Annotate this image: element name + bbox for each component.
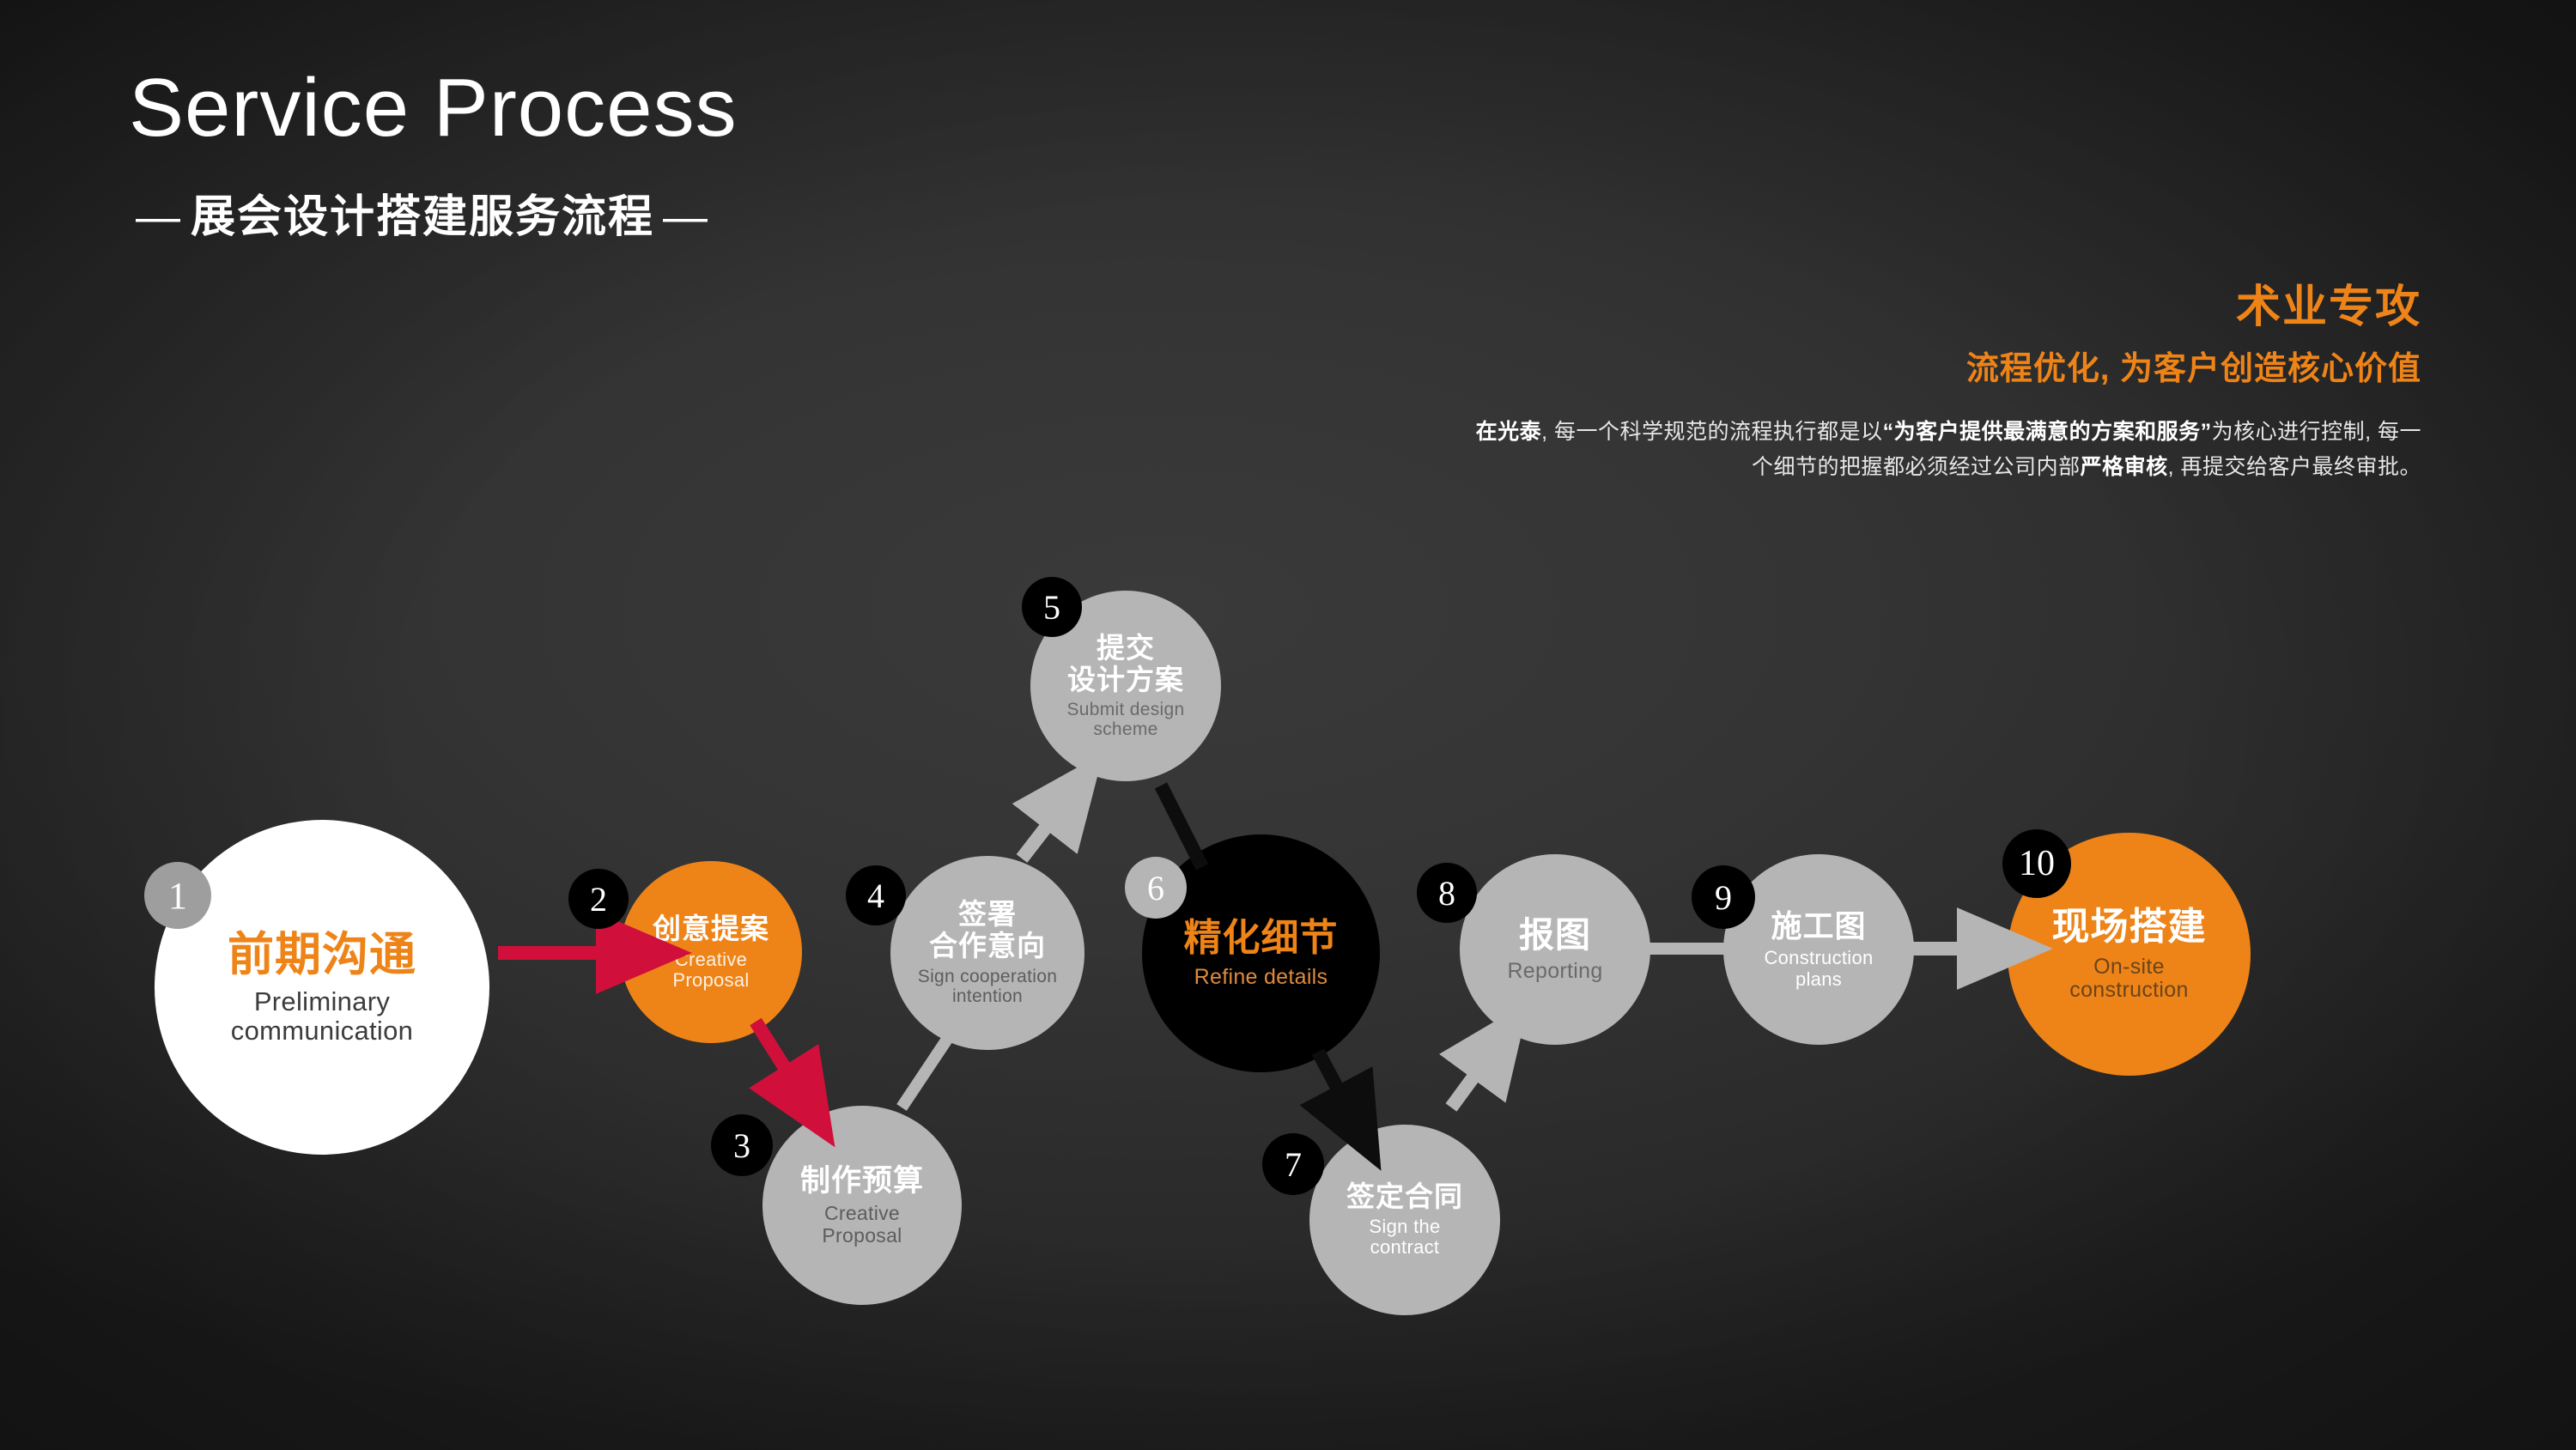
flow-node-7-number-badge: 7 bbox=[1262, 1133, 1324, 1195]
flow-node-4-number: 4 bbox=[867, 876, 884, 916]
flow-node-9-number-badge: 9 bbox=[1692, 865, 1755, 929]
connector-6-to-7 bbox=[1318, 1052, 1357, 1125]
connector-3-to-4 bbox=[902, 1030, 953, 1107]
flow-node-10-number-badge: 10 bbox=[2002, 829, 2071, 898]
flow-node-10-number: 10 bbox=[2019, 843, 2055, 884]
connector-2-to-3 bbox=[756, 1022, 807, 1103]
flow-node-6-number-badge: 6 bbox=[1125, 857, 1187, 919]
connector-5-to-6 bbox=[1161, 786, 1202, 867]
slide-stage: Service Process —展会设计搭建服务流程— 术业专攻 流程优化, … bbox=[0, 0, 2576, 1450]
flow-connectors bbox=[0, 0, 2576, 1450]
flow-node-5-number-badge: 5 bbox=[1022, 577, 1082, 637]
flow-node-1-number: 1 bbox=[168, 874, 187, 918]
flow-node-7-number: 7 bbox=[1285, 1144, 1302, 1185]
flow-node-2-number-badge: 2 bbox=[568, 869, 629, 929]
flow-node-3-number: 3 bbox=[733, 1125, 750, 1166]
flow-node-9-number: 9 bbox=[1715, 877, 1732, 918]
flow-node-2-number: 2 bbox=[590, 879, 607, 919]
flow-node-6-number: 6 bbox=[1147, 868, 1164, 908]
flow-node-1-number-badge: 1 bbox=[144, 862, 211, 929]
flow-node-3-number-badge: 3 bbox=[711, 1114, 773, 1176]
flow-node-4-number-badge: 4 bbox=[846, 865, 906, 925]
connector-4-to-5 bbox=[1022, 794, 1072, 858]
flow-node-8-number: 8 bbox=[1438, 873, 1455, 913]
connector-7-to-8 bbox=[1451, 1043, 1498, 1107]
flow-node-8-number-badge: 8 bbox=[1417, 863, 1477, 923]
flow-node-5-number: 5 bbox=[1043, 587, 1060, 628]
